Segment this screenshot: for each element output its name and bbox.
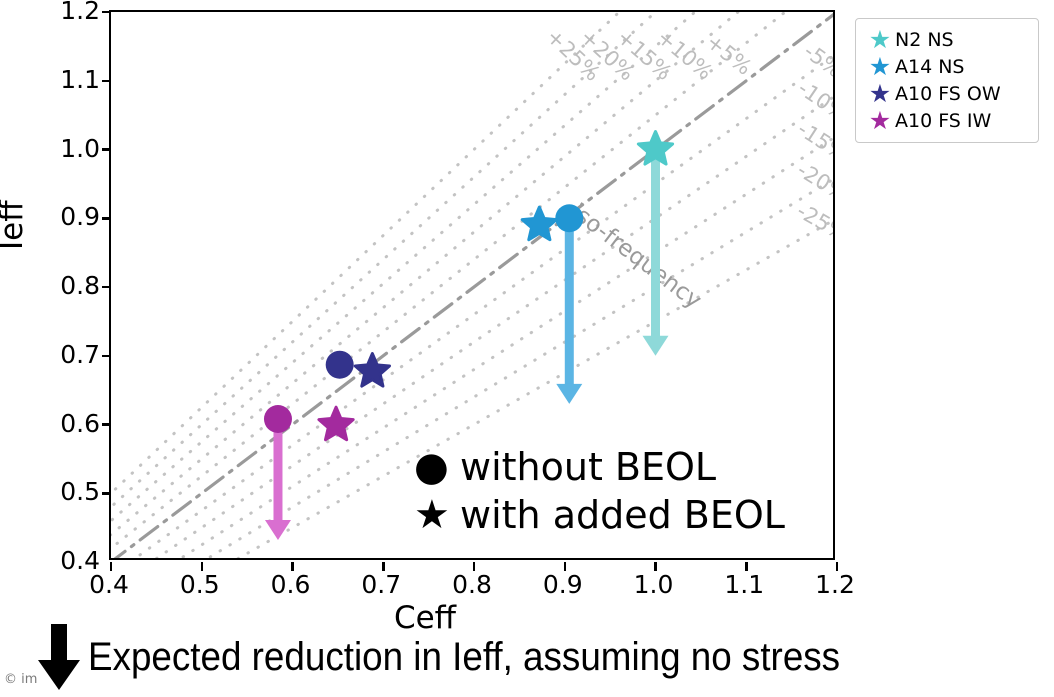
reference-line-label: -5% bbox=[799, 39, 833, 82]
caption: Expected reduction in Ieff, assuming no … bbox=[30, 624, 1054, 690]
x-tick-label: 0.8 bbox=[441, 572, 503, 597]
y-tick-mark bbox=[102, 148, 111, 151]
reference-line-label: iso-frequency bbox=[566, 199, 706, 314]
y-tick-label: 0.5 bbox=[38, 479, 100, 504]
legend-item-label: N2 NS bbox=[895, 29, 954, 51]
data-point-without-beol bbox=[555, 204, 583, 232]
data-point-with-added-beol bbox=[319, 407, 353, 440]
x-tick-label: 1.1 bbox=[713, 572, 775, 597]
star-icon: ★ bbox=[865, 27, 895, 52]
x-tick-label: 0.4 bbox=[78, 572, 140, 597]
reduction-arrow-head bbox=[556, 384, 582, 404]
y-tick-label: 0.7 bbox=[38, 342, 100, 367]
legend-item[interactable]: ★A10 FS IW bbox=[865, 107, 1029, 134]
circle-icon: ● bbox=[414, 447, 460, 487]
legend-item-label: A14 NS bbox=[895, 56, 965, 78]
y-tick-label: 0.8 bbox=[38, 273, 100, 298]
x-tick-label: 0.5 bbox=[169, 572, 231, 597]
marker-key-item: ★with added BEOL bbox=[414, 491, 785, 539]
caption-text: Expected reduction in Ieff, assuming no … bbox=[88, 635, 840, 680]
reference-line-labels-group: +25%+20%+15%+10%+5%iso-frequency-5%-10%-… bbox=[542, 24, 833, 314]
data-point-with-added-beol bbox=[355, 354, 389, 387]
marker-key-item: ●without BEOL bbox=[414, 443, 785, 491]
x-tick-label: 0.9 bbox=[532, 572, 594, 597]
star-icon: ★ bbox=[865, 108, 895, 133]
y-tick-mark bbox=[102, 217, 111, 220]
marker-key: ●without BEOL★with added BEOL bbox=[414, 443, 785, 539]
data-point-without-beol bbox=[264, 405, 292, 433]
legend-item-label: A10 FS OW bbox=[895, 83, 1001, 105]
y-tick-label: 1.1 bbox=[38, 67, 100, 92]
y-tick-label: 0.6 bbox=[38, 411, 100, 436]
marker-key-label: without BEOL bbox=[460, 445, 716, 489]
x-tick-label: 1.2 bbox=[804, 572, 866, 597]
y-tick-label: 0.9 bbox=[38, 204, 100, 229]
y-tick-mark bbox=[102, 355, 111, 358]
legend-item[interactable]: ★A14 NS bbox=[865, 53, 1029, 80]
x-tick-label: 0.6 bbox=[260, 572, 322, 597]
y-tick-mark bbox=[102, 80, 111, 83]
reference-line-label: -15% bbox=[793, 117, 833, 167]
star-icon: ★ bbox=[865, 54, 895, 79]
legend-item-label: A10 FS IW bbox=[895, 110, 991, 132]
legend: ★N2 NS★A14 NS★A10 FS OW★A10 FS IW bbox=[855, 18, 1039, 143]
x-tick-label: 1.0 bbox=[623, 572, 685, 597]
watermark: © im bbox=[4, 672, 37, 687]
data-point-without-beol bbox=[326, 351, 354, 379]
legend-item[interactable]: ★A10 FS OW bbox=[865, 80, 1029, 107]
reference-line-label: -10% bbox=[794, 76, 833, 126]
y-tick-mark bbox=[102, 286, 111, 289]
data-point-with-added-beol bbox=[522, 207, 556, 240]
star-icon: ★ bbox=[865, 81, 895, 106]
y-tick-mark bbox=[102, 492, 111, 495]
star-icon: ★ bbox=[414, 495, 460, 535]
marker-key-label: with added BEOL bbox=[460, 493, 785, 537]
y-tick-mark bbox=[102, 423, 111, 426]
legend-item[interactable]: ★N2 NS bbox=[865, 26, 1029, 53]
y-tick-label: 1.0 bbox=[38, 136, 100, 161]
down-arrow-icon bbox=[30, 624, 88, 690]
y-tick-label: 1.2 bbox=[38, 0, 100, 23]
reduction-arrow-head bbox=[643, 336, 669, 356]
x-tick-label: 0.7 bbox=[350, 572, 412, 597]
y-tick-mark bbox=[102, 11, 111, 14]
figure-root: +25%+20%+15%+10%+5%iso-frequency-5%-10%-… bbox=[0, 0, 1054, 697]
y-axis-label: Ieff bbox=[0, 200, 30, 250]
